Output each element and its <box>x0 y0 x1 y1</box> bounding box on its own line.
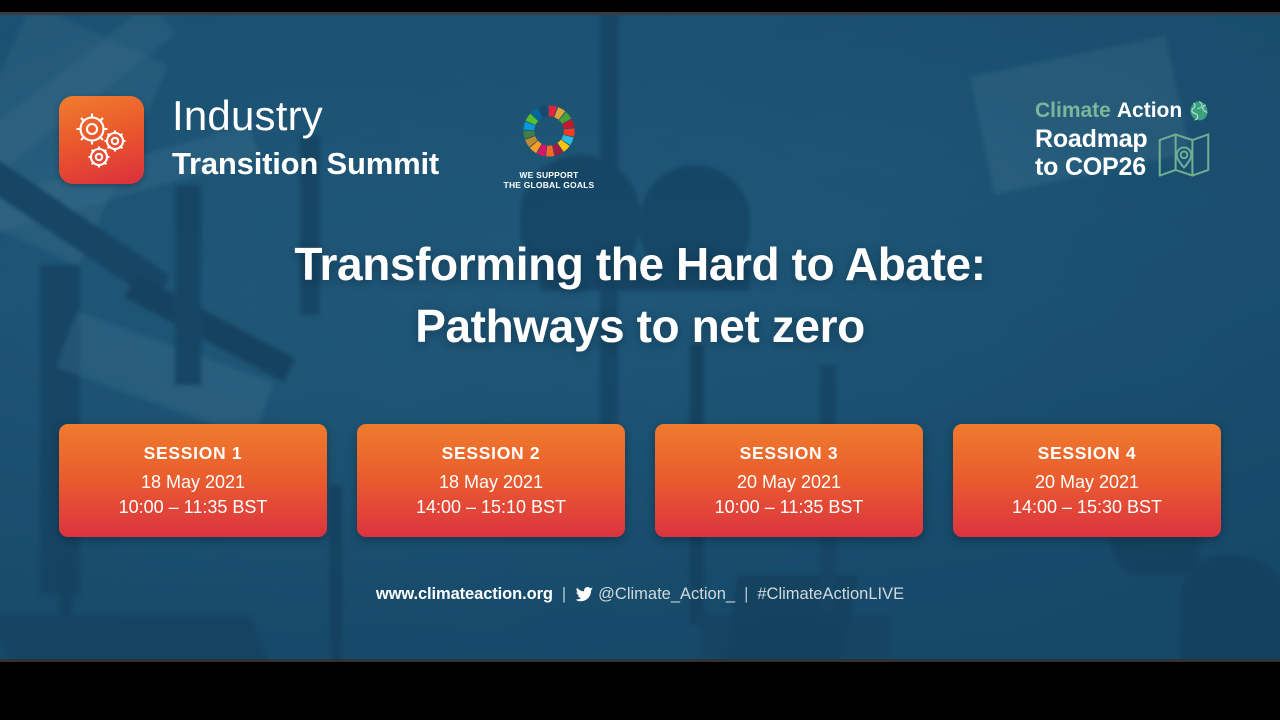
session-cards-row: SESSION 1 18 May 2021 10:00 – 11:35 BST … <box>59 424 1221 537</box>
session-card-1[interactable]: SESSION 1 18 May 2021 10:00 – 11:35 BST <box>59 424 327 537</box>
session-2-label: SESSION 2 <box>442 442 541 464</box>
climate-action-roadmap-logo: Climate Action Roadmap to COP <box>1035 99 1235 183</box>
slide-footer: www.climateaction.org | @Climate_Action_… <box>0 583 1280 605</box>
title-line-1: Transforming the Hard to Abate: <box>0 233 1280 295</box>
roadmap-cop26-block: Roadmap to COP26 <box>1035 125 1235 183</box>
climate-word: Climate <box>1035 99 1111 123</box>
letterbox-bottom-bar <box>0 662 1280 720</box>
session-card-2[interactable]: SESSION 2 18 May 2021 14:00 – 15:10 BST <box>357 424 625 537</box>
sdg-color-wheel-icon <box>503 95 595 167</box>
session-2-time: 14:00 – 15:10 BST <box>416 495 566 520</box>
climate-action-wordmark: Climate Action <box>1035 99 1235 123</box>
slide-stage: Industry Transition Summit <box>0 0 1280 720</box>
roadmap-line1: Roadmap <box>1035 125 1148 153</box>
letterbox-top-bar <box>0 0 1280 12</box>
session-4-date: 20 May 2021 <box>1035 470 1139 495</box>
sdg-caption-line1: WE SUPPORT <box>503 170 595 180</box>
website-link[interactable]: www.climateaction.org <box>376 583 553 605</box>
session-card-4[interactable]: SESSION 4 20 May 2021 14:00 – 15:30 BST <box>953 424 1221 537</box>
session-4-label: SESSION 4 <box>1038 442 1137 464</box>
presentation-slide: Industry Transition Summit <box>0 15 1280 659</box>
title-line-2: Pathways to net zero <box>0 295 1280 357</box>
session-4-time: 14:00 – 15:30 BST <box>1012 495 1162 520</box>
folded-map-pin-icon <box>1156 125 1212 183</box>
session-3-date: 20 May 2021 <box>737 470 841 495</box>
action-word: Action <box>1117 99 1182 123</box>
slide-title: Transforming the Hard to Abate: Pathways… <box>0 233 1280 357</box>
session-2-date: 18 May 2021 <box>439 470 543 495</box>
globe-icon <box>1188 100 1210 122</box>
brand-line-industry: Industry <box>172 91 439 141</box>
twitter-handle-group[interactable]: @Climate_Action_ <box>575 583 735 605</box>
footer-separator-1: | <box>562 583 566 605</box>
brand-logo-tile <box>59 96 144 184</box>
footer-separator-2: | <box>744 583 748 605</box>
session-card-3[interactable]: SESSION 3 20 May 2021 10:00 – 11:35 BST <box>655 424 923 537</box>
session-3-label: SESSION 3 <box>740 442 839 464</box>
session-1-label: SESSION 1 <box>144 442 243 464</box>
session-3-time: 10:00 – 11:35 BST <box>715 495 864 520</box>
twitter-handle: @Climate_Action_ <box>598 583 735 605</box>
slide-header: Industry Transition Summit <box>0 15 1280 215</box>
twitter-bird-icon <box>575 587 593 602</box>
brand-wordmark: Industry Transition Summit <box>172 91 439 184</box>
roadmap-line2: to COP26 <box>1035 153 1148 181</box>
sdg-caption-line2: THE GLOBAL GOALS <box>503 180 595 190</box>
session-1-date: 18 May 2021 <box>141 470 245 495</box>
event-hashtag: #ClimateActionLIVE <box>757 583 904 605</box>
brand-line-transition-summit: Transition Summit <box>172 144 439 184</box>
session-1-time: 10:00 – 11:35 BST <box>119 495 268 520</box>
sdg-global-goals-logo: WE SUPPORT THE GLOBAL GOALS <box>503 95 595 189</box>
